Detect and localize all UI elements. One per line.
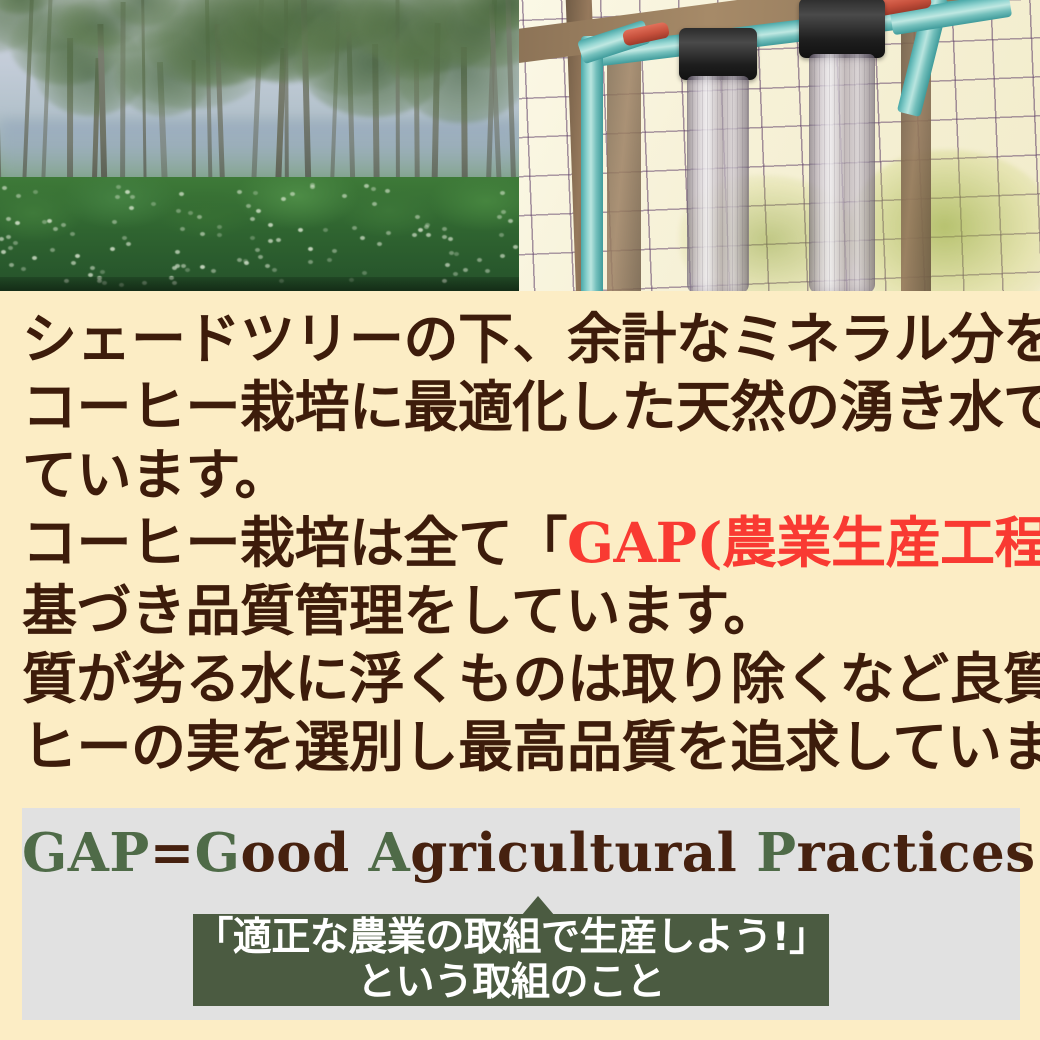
- coffee-blossom: [323, 228, 328, 232]
- coffee-blossom: [272, 268, 277, 272]
- coffee-blossom: [308, 247, 313, 251]
- coffee-blossom: [332, 249, 337, 253]
- foliage-right: [850, 150, 1040, 291]
- coffee-blossom: [418, 228, 423, 232]
- water-filter-photo: [519, 0, 1040, 291]
- coffee-blossom: [112, 220, 117, 224]
- filter-grain-2: [809, 54, 875, 291]
- gap-title: GAP=Good Agricultural Practices: [22, 822, 1020, 884]
- coffee-blossom: [508, 219, 513, 223]
- coffee-blossom: [33, 190, 38, 194]
- coffee-blossom: [237, 190, 242, 194]
- coffee-blossom: [364, 184, 369, 188]
- coffee-blossom: [426, 233, 431, 237]
- coffee-blossom: [151, 202, 156, 206]
- coffee-blossom: [250, 236, 255, 240]
- gap-title-part-7: [737, 822, 756, 884]
- coffee-blossom: [2, 186, 7, 190]
- coffee-blossom: [276, 238, 281, 242]
- coffee-blossom: [253, 191, 258, 195]
- coffee-blossom: [176, 209, 181, 213]
- coffee-blossom: [211, 269, 216, 273]
- gap-definition-panel: GAP=Good Agricultural Practices 「適正な農業の取…: [22, 808, 1020, 1020]
- body-line-3: ています。: [22, 441, 1022, 509]
- coffee-blossom: [50, 248, 55, 252]
- coffee-blossom: [6, 235, 11, 239]
- coffee-blossom: [217, 233, 222, 237]
- coffee-blossom: [75, 254, 80, 258]
- gap-sentence-line-1: コーヒー栽培は全て「GAP(農業生産工程)」に: [22, 509, 1022, 577]
- coffee-blossom: [327, 258, 332, 262]
- coffee-blossom: [500, 254, 505, 258]
- filter-cap-2: [799, 0, 885, 58]
- foreground-shadow: [0, 277, 519, 291]
- gap-sentence-line-2: 基づき品質管理をしています。: [22, 577, 1022, 645]
- coffee-shrub-band: [0, 177, 519, 291]
- coffee-blossom: [281, 197, 286, 201]
- coffee-blossom: [255, 248, 260, 252]
- coffee-field-photo: [0, 0, 519, 291]
- gap-title-part-2: G: [195, 822, 241, 884]
- coffee-blossom: [90, 266, 95, 270]
- coffee-blossom: [425, 223, 430, 227]
- coffee-blossom: [200, 265, 205, 269]
- coffee-blossom: [47, 219, 52, 223]
- coffee-blossom: [377, 242, 382, 246]
- filter-cylinder-1: [687, 76, 749, 291]
- coffee-blossom: [116, 185, 121, 189]
- coffee-blossom: [442, 235, 447, 239]
- coffee-blossom: [454, 252, 459, 256]
- coffee-blossom: [6, 217, 11, 221]
- coffee-blossom: [16, 194, 21, 198]
- gap-title-part-6: gricultural: [410, 822, 737, 884]
- quality-line-2: ヒーの実を選別し最高品質を追求しています。: [22, 713, 1022, 781]
- coffee-blossom: [268, 239, 273, 243]
- coffee-blossom: [13, 241, 18, 245]
- banner-line-1: 「適正な農業の取組で生産しよう!」: [194, 915, 827, 960]
- gap-highlight: GAP(農業生産工程): [567, 510, 1040, 575]
- coffee-blossom: [185, 268, 190, 272]
- coffee-blossom: [188, 211, 193, 215]
- gap-title-part-3: ood: [240, 822, 349, 884]
- coffee-blossom: [42, 220, 47, 224]
- gap-title-part-8: P: [756, 822, 796, 884]
- quality-line-1: 質が劣る水に浮くものは取り除くなど良質なコー: [22, 645, 1022, 713]
- gap-title-part-1: =: [150, 822, 195, 884]
- gap-title-part-5: A: [369, 822, 411, 884]
- coffee-blossom: [179, 192, 184, 196]
- coffee-blossom: [130, 195, 135, 199]
- coffee-blossom: [71, 261, 76, 265]
- coffee-blossom: [445, 263, 450, 267]
- coffee-blossom: [448, 237, 453, 241]
- shade-tree-scene: [0, 0, 519, 291]
- banner-line-2: という取組のこと: [357, 960, 665, 1005]
- coffee-blossom: [9, 263, 14, 267]
- coffee-blossom: [485, 269, 490, 273]
- wooden-post-mid: [607, 40, 641, 291]
- coffee-blossom: [372, 202, 377, 206]
- coffee-blossom: [290, 192, 295, 196]
- coffee-blossom: [8, 246, 13, 250]
- coffee-blossom: [415, 215, 420, 219]
- coffee-blossom: [122, 236, 127, 240]
- coffee-blossom: [129, 206, 134, 210]
- coffee-blossom: [115, 195, 120, 199]
- gap-sentence-before: コーヒー栽培は全て「: [22, 511, 567, 575]
- coffee-blossom: [513, 245, 518, 249]
- coffee-blossom: [497, 215, 502, 219]
- coffee-blossom: [477, 258, 482, 262]
- coffee-blossom: [258, 255, 263, 259]
- filter-grain-1: [687, 76, 749, 291]
- coffee-blossom: [442, 227, 447, 231]
- coffee-blossom: [175, 250, 180, 254]
- coffee-blossom: [386, 231, 391, 235]
- coffee-blossom: [237, 258, 242, 262]
- gap-title-part-9: ractices: [797, 822, 1036, 884]
- coffee-blossom: [360, 236, 365, 240]
- coffee-blossom: [310, 183, 315, 187]
- water-filter-scene: [519, 0, 1040, 291]
- gap-meaning-banner: 「適正な農業の取組で生産しよう!」 という取組のこと: [193, 914, 829, 1006]
- coffee-blossom: [412, 233, 417, 237]
- coffee-blossom: [352, 226, 357, 230]
- body-text-block: シェードツリーの下、余計なミネラル分を濾過し コーヒー栽培に最適化した天然の湧き…: [0, 291, 1040, 781]
- coffee-blossom: [53, 227, 58, 231]
- coffee-blossom: [200, 232, 205, 236]
- coffee-blossom: [100, 270, 105, 274]
- pipe-vertical-left: [581, 36, 603, 291]
- coffee-blossom: [298, 228, 303, 232]
- coffee-blossom: [110, 247, 115, 251]
- coffee-blossom: [180, 227, 185, 231]
- coffee-blossom: [308, 260, 313, 264]
- coffee-blossom: [15, 221, 20, 225]
- coffee-blossom: [499, 233, 504, 237]
- coffee-blossom: [265, 264, 270, 268]
- coffee-blossom: [125, 190, 130, 194]
- coffee-blossom: [0, 237, 4, 241]
- coffee-blossom: [463, 268, 468, 272]
- coffee-blossom: [197, 215, 202, 219]
- coffee-blossom: [250, 217, 255, 221]
- coffee-blossom: [453, 272, 458, 276]
- coffee-blossom: [246, 204, 251, 208]
- coffee-blossom: [70, 232, 75, 236]
- photo-strip: [0, 0, 1040, 291]
- coffee-blossom: [1, 250, 6, 254]
- infographic-page: シェードツリーの下、余計なミネラル分を濾過し コーヒー栽培に最適化した天然の湧き…: [0, 0, 1040, 1040]
- coffee-blossom: [61, 223, 66, 227]
- coffee-blossom: [32, 256, 37, 260]
- coffee-blossom: [500, 191, 505, 195]
- coffee-blossom: [362, 271, 367, 275]
- gap-title-part-4: [350, 822, 369, 884]
- filter-cap-1: [679, 28, 757, 80]
- body-line-2: コーヒー栽培に最適化した天然の湧き水で育て: [22, 373, 1022, 441]
- coffee-blossom: [385, 189, 390, 193]
- coffee-blossom: [342, 194, 347, 198]
- coffee-blossom: [501, 210, 506, 214]
- filter-cylinder-2: [809, 54, 875, 291]
- body-line-1: シェードツリーの下、余計なミネラル分を濾過し: [22, 305, 1022, 373]
- coffee-blossom: [217, 225, 222, 229]
- coffee-blossom: [256, 209, 261, 213]
- coffee-blossom: [126, 242, 131, 246]
- gap-title-part-0: GAP: [22, 822, 150, 884]
- coffee-blossom: [175, 264, 180, 268]
- coffee-blossom: [371, 187, 376, 191]
- coffee-blossom: [268, 223, 273, 227]
- coffee-blossom: [21, 267, 26, 271]
